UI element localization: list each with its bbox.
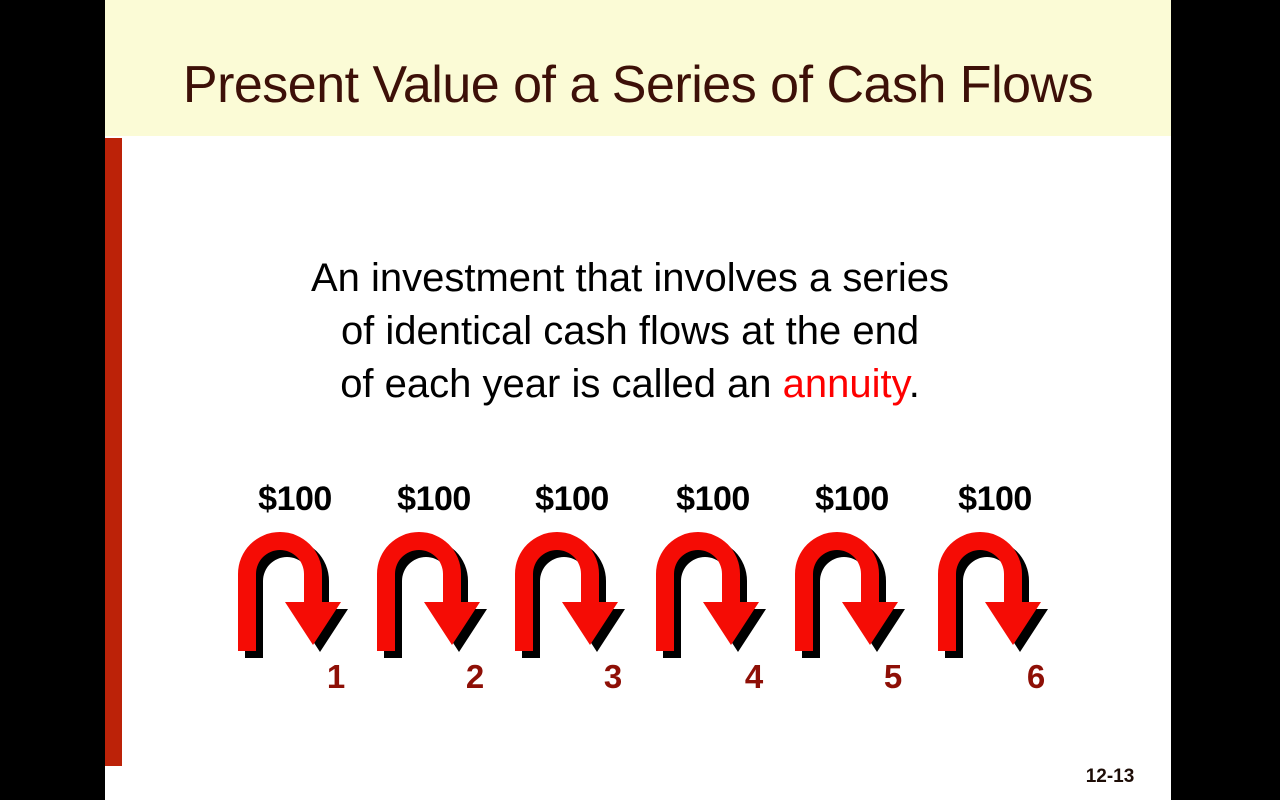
cash-flow-amount-2: $100 (364, 480, 504, 519)
cash-flow-period-6: $100 6 (925, 480, 1065, 700)
cash-flow-period-4: $100 4 (643, 480, 783, 700)
body-line-1: An investment that involves a series (180, 252, 1080, 305)
page-title: Present Value of a Series of Cash Flows (105, 55, 1171, 115)
curved-arrow-icon (782, 526, 932, 658)
left-accent-bar (105, 138, 122, 766)
body-paragraph: An investment that involves a series of … (180, 252, 1080, 411)
cash-flow-amount-6: $100 (925, 480, 1065, 519)
page-number: 12-13 (1060, 766, 1160, 788)
annuity-highlight: annuity (783, 362, 909, 406)
curved-arrow-icon (643, 526, 793, 658)
cash-flow-diagram: $100 1 $100 (225, 480, 1095, 700)
slide-root: Present Value of a Series of Cash Flows … (0, 0, 1280, 800)
cash-flow-period-2: $100 2 (364, 480, 504, 700)
cash-flow-period-1: $100 1 (225, 480, 365, 700)
curved-arrow-icon (925, 526, 1075, 658)
body-line-3-prefix: of each year is called an (340, 362, 782, 406)
cash-flow-period-5: $100 5 (782, 480, 922, 700)
body-line-3: of each year is called an annuity. (180, 358, 1080, 411)
body-line-3-suffix: . (909, 362, 920, 406)
body-line-2: of identical cash flows at the end (180, 305, 1080, 358)
cash-flow-year-6: 6 (981, 658, 1091, 696)
cash-flow-amount-3: $100 (502, 480, 642, 519)
cash-flow-period-3: $100 3 (502, 480, 642, 700)
title-banner: Present Value of a Series of Cash Flows (105, 0, 1171, 136)
cash-flow-amount-5: $100 (782, 480, 922, 519)
curved-arrow-icon (364, 526, 514, 658)
curved-arrow-icon (502, 526, 652, 658)
cash-flow-amount-1: $100 (225, 480, 365, 519)
curved-arrow-icon (225, 526, 375, 658)
cash-flow-amount-4: $100 (643, 480, 783, 519)
